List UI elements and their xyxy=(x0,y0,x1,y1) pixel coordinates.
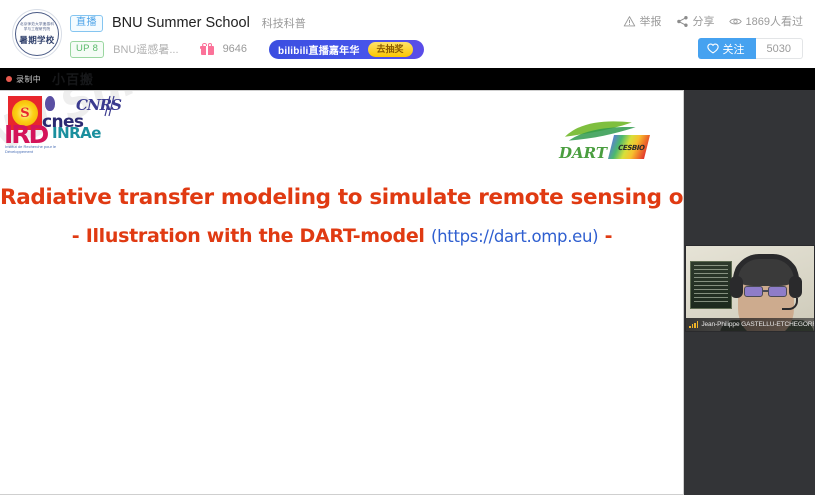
header-meta-row: UP 8 BNU遥感暑... 9646 bilibili直播嘉年华 去抽奖 xyxy=(70,38,424,60)
gift-count: 9646 xyxy=(223,43,247,55)
slide-subtitle-url: (https://dart.omp.eu) xyxy=(431,227,598,246)
dart-logo-text: DART xyxy=(559,144,607,162)
signal-icon xyxy=(689,321,698,328)
avatar-top-text: 北京师范大学遥感科学与工程研究院 xyxy=(19,22,55,31)
avatar-badge: 北京师范大学遥感科学与工程研究院 暑期学校 xyxy=(15,12,59,56)
recording-dot-icon xyxy=(6,76,12,82)
ird-logo-subtext: Institut de Recherche pour le Développem… xyxy=(5,144,57,154)
report-icon xyxy=(623,15,636,28)
recording-label: 录制中 xyxy=(16,74,41,85)
report-action[interactable]: 举报 xyxy=(623,13,662,29)
up-name-label[interactable]: BNU遥感暑... xyxy=(113,41,178,57)
header-actions: 举报 分享 1869人看过 xyxy=(623,13,803,29)
presentation-slide: BNU Summer School 2022 - Advanced Method… xyxy=(0,90,684,495)
live-room-page: 北京师范大学遥感科学与工程研究院 暑期学校 直播 BNU Summer Scho… xyxy=(0,0,815,495)
up-level-badge: UP 8 xyxy=(70,41,104,58)
slide-title: Radiative transfer modeling to simulate … xyxy=(0,183,684,213)
cnes-accent-icon xyxy=(45,96,55,111)
follower-count: 5030 xyxy=(756,38,803,59)
speaker-webcam[interactable]: Jean-Philippe GASTELLU-ETCHEGORRY xyxy=(685,245,815,332)
room-category[interactable]: 科技科普 xyxy=(262,15,306,31)
avatar[interactable]: 北京师范大学遥感科学与工程研究院 暑期学校 xyxy=(12,9,62,59)
recording-bar: 录制中 小百搬 xyxy=(0,68,815,90)
page-title: BNU Summer School xyxy=(112,15,250,31)
speaker-name-bar: Jean-Philippe GASTELLU-ETCHEGORRY xyxy=(686,318,815,331)
recording-watermark: 小百搬 xyxy=(52,69,94,88)
slide-title-block: Radiative transfer modeling to simulate … xyxy=(0,183,684,247)
header-title-row: 直播 BNU Summer School 科技科普 xyxy=(70,12,306,34)
speaker-name: Jean-Philippe GASTELLU-ETCHEGORRY xyxy=(701,321,815,328)
slide-subtitle: - Illustration with the DART-model (http… xyxy=(0,225,684,247)
cesbio-label: CESBIO xyxy=(617,144,645,152)
carnival-banner-text: bilibili直播嘉年华 xyxy=(278,42,360,57)
wall-poster xyxy=(690,261,732,309)
cnrs-strokes-icon xyxy=(102,94,116,118)
share-label: 分享 xyxy=(693,13,715,29)
viewers-indicator: 1869人看过 xyxy=(729,13,803,29)
inrae-logo-text: INRAe xyxy=(52,124,101,142)
slide-subtitle-main: - Illustration with the DART-model xyxy=(72,225,425,247)
share-action[interactable]: 分享 xyxy=(676,13,715,29)
dart-logo: CESBIO DART xyxy=(559,119,649,165)
institution-logos: S cnes CNRS IRD Institut de Recherche po… xyxy=(4,94,154,156)
carnival-banner[interactable]: bilibili直播嘉年华 去抽奖 xyxy=(269,40,424,59)
follow-label: 关注 xyxy=(723,41,745,57)
report-label: 举报 xyxy=(640,13,662,29)
share-icon xyxy=(676,15,689,28)
heart-icon xyxy=(707,43,719,54)
gift-icon xyxy=(201,43,214,55)
slide-subtitle-dash: - xyxy=(605,225,613,247)
carnival-lottery-button[interactable]: 去抽奖 xyxy=(368,42,413,57)
eye-icon xyxy=(729,15,742,28)
live-badge: 直播 xyxy=(70,15,103,32)
avatar-main-text: 暑期学校 xyxy=(19,34,54,46)
gift-group[interactable]: 9646 xyxy=(201,43,247,55)
follow-button[interactable]: 关注 xyxy=(698,38,756,59)
room-header: 北京师范大学遥感科学与工程研究院 暑期学校 直播 BNU Summer Scho… xyxy=(0,0,815,68)
viewers-label: 1869人看过 xyxy=(746,13,803,29)
follow-group: 关注 5030 xyxy=(698,38,803,59)
